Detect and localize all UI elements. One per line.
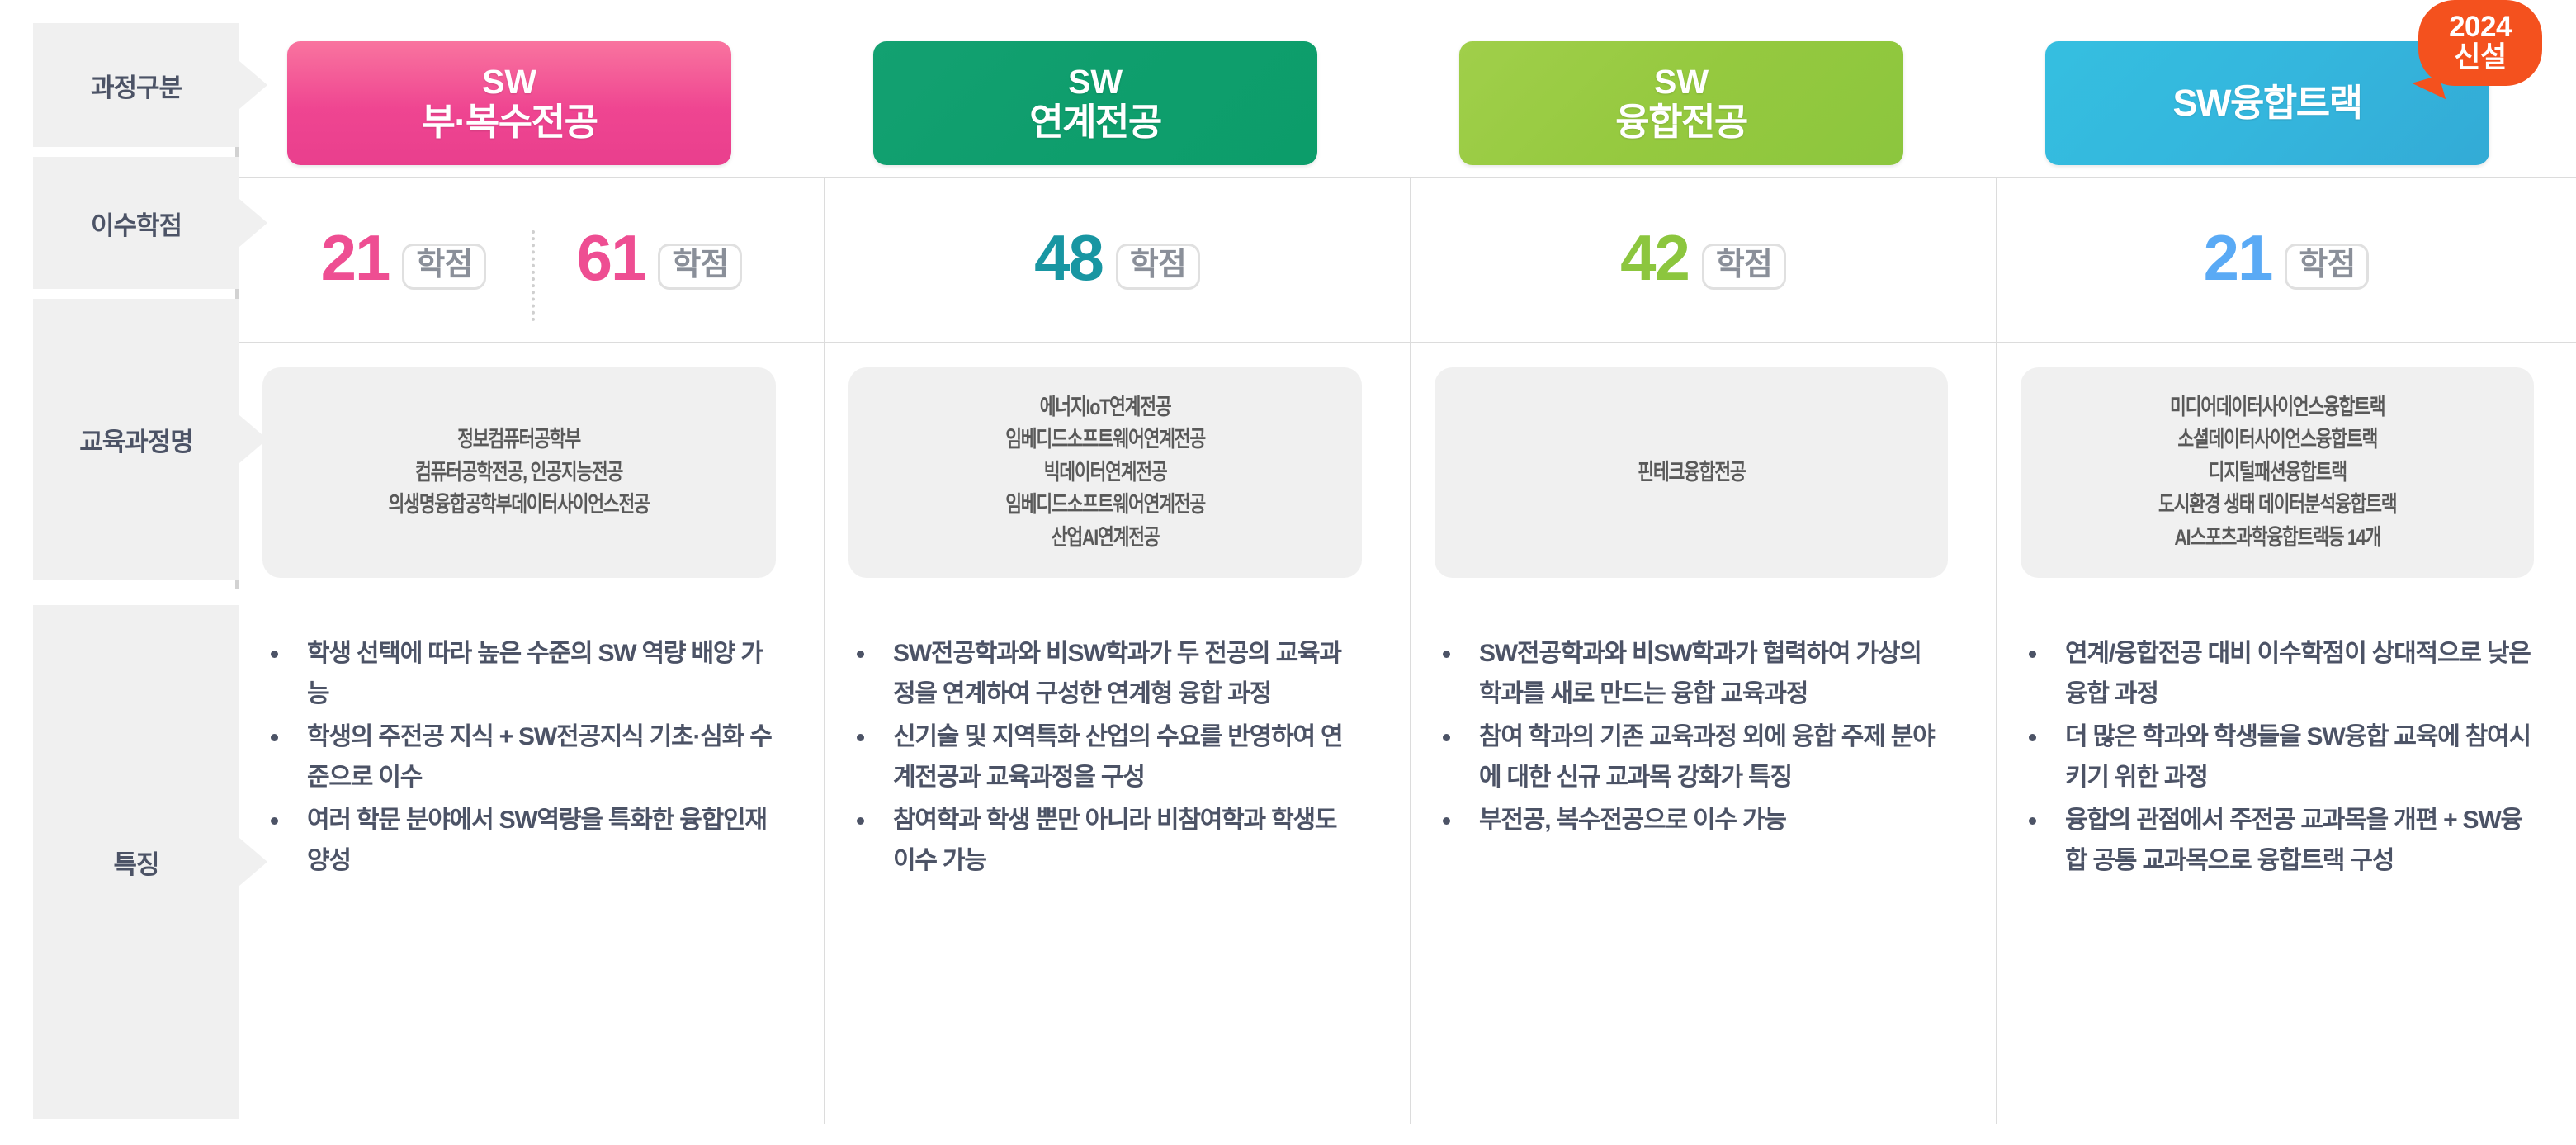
row-label-curriculum-name: 교육과정명 <box>33 299 239 580</box>
credit-value: 21 <box>321 225 390 290</box>
row-label-credits: 이수학점 <box>33 157 239 289</box>
feature-item: 학생의 주전공 지식 + SW전공지식 기초·심화 수준으로 이수 <box>264 717 776 797</box>
curriculum-card-sw-convergence-track: 미디어데이터사이언스융합트랙 소셜데이터사이언스융합트랙 디지털패션융합트랙 도… <box>2021 367 2534 578</box>
feature-list: 학생 선택에 따라 높은 수준의 SW 역량 배양 가능 학생의 주전공 지식 … <box>264 634 776 882</box>
column-header-line1: SW <box>1068 64 1123 102</box>
features-cell-sw-double-major: 학생 선택에 따라 높은 수준의 SW 역량 배양 가능 학생의 주전공 지식 … <box>264 634 776 885</box>
credit-value: 42 <box>1620 225 1689 290</box>
credits-cell-sw-double-major: 21 학점 61 학점 <box>239 206 824 314</box>
curriculum-card-sw-double-major: 정보컴퓨터공학부 컴퓨터공학전공, 인공지능전공 의생명융합공학부데이터사이언스… <box>262 367 776 578</box>
comparison-grid: SW 부·복수전공 21 학점 61 학점 정보컴퓨터공학부 컴퓨터공학전공, … <box>239 0 2576 1145</box>
curriculum-name-item: 도시환경 생태 데이터분석융합트랙 <box>2158 489 2396 521</box>
column-header-sw-linked-major[interactable]: SW 연계전공 <box>873 41 1317 165</box>
credit-unit-badge: 학점 <box>658 244 742 290</box>
credit-item-double: 61 학점 <box>532 225 787 295</box>
features-cell-sw-linked-major: SW전공학과와 비SW학과가 두 전공의 교육과정을 연계하여 구성한 연계형 … <box>850 634 1362 885</box>
feature-item: 연계/융합전공 대비 이수학점이 상대적으로 낮은 융합 과정 <box>2022 634 2534 714</box>
curriculum-name-list: 미디어데이터사이언스융합트랙 소셜데이터사이언스융합트랙 디지털패션융합트랙 도… <box>2158 391 2396 554</box>
curriculum-card-sw-linked-major: 에너지IoT연계전공 임베디드소프트웨어연계전공 빅데이터연계전공 임베디드소프… <box>848 367 1362 578</box>
credits-cell-sw-linked-major: 48 학점 <box>825 206 1410 314</box>
credit-unit-badge: 학점 <box>1116 244 1200 290</box>
credits-cell-sw-convergence-major: 42 학점 <box>1411 206 1996 314</box>
row-label-curriculum-name-text: 교육과정명 <box>79 421 193 458</box>
curriculum-name-item: 산업AI연계전공 <box>1005 522 1205 554</box>
curriculum-name-item: 에너지IoT연계전공 <box>1005 391 1205 423</box>
curriculum-name-item: 빅데이터연계전공 <box>1005 457 1205 489</box>
column-separator-2 <box>1410 177 1411 1124</box>
rule-below-header <box>239 177 2576 178</box>
credit-value: 48 <box>1034 225 1103 290</box>
column-header-sw-convergence-major[interactable]: SW 융합전공 <box>1459 41 1903 165</box>
feature-item: 참여학과 학생 뿐만 아니라 비참여학과 학생도 이수 가능 <box>850 801 1362 881</box>
credit-value: 21 <box>2204 225 2272 290</box>
feature-item: SW전공학과와 비SW학과가 협력하여 가상의 학과를 새로 만드는 융합 교육… <box>1436 634 1948 714</box>
feature-item: 학생 선택에 따라 높은 수준의 SW 역량 배양 가능 <box>264 634 776 714</box>
column-separator-3 <box>1996 177 1997 1124</box>
credit-item: 48 학점 <box>1034 225 1200 295</box>
new-2024-badge-year: 2024 <box>2449 12 2512 43</box>
row-label-features-text: 특징 <box>113 844 158 881</box>
curriculum-name-item: 미디어데이터사이언스융합트랙 <box>2158 391 2396 423</box>
row-label-course-type: 과정구분 <box>33 23 239 147</box>
curriculum-name-list: 에너지IoT연계전공 임베디드소프트웨어연계전공 빅데이터연계전공 임베디드소프… <box>1005 391 1205 554</box>
column-header-line2: 연계전공 <box>1029 102 1161 143</box>
feature-list: 연계/융합전공 대비 이수학점이 상대적으로 낮은 융합 과정 더 많은 학과와… <box>2022 634 2534 882</box>
credit-dotted-separator <box>532 230 535 321</box>
feature-item: 융합의 관점에서 주전공 교과목을 개편 + SW융합 공통 교과목으로 융합트… <box>2022 801 2534 881</box>
rule-below-curriculum <box>239 603 2576 603</box>
features-cell-sw-convergence-track: 연계/융합전공 대비 이수학점이 상대적으로 낮은 융합 과정 더 많은 학과와… <box>2022 634 2534 885</box>
feature-item: SW전공학과와 비SW학과가 두 전공의 교육과정을 연계하여 구성한 연계형 … <box>850 634 1362 714</box>
column-separator-1 <box>824 177 825 1124</box>
new-2024-badge: 2024 신설 <box>2418 0 2542 86</box>
credit-unit-badge: 학점 <box>1702 244 1786 290</box>
curriculum-name-item: 정보컴퓨터공학부 <box>389 423 650 456</box>
credit-unit-badge: 학점 <box>2285 244 2369 290</box>
credit-unit-badge: 학점 <box>402 244 486 290</box>
credit-item-minor: 21 학점 <box>276 225 532 295</box>
curriculum-name-item: 소셜데이터사이언스융합트랙 <box>2158 423 2396 456</box>
curriculum-comparison-table: 과정구분 이수학점 교육과정명 특징 <box>0 0 2576 1145</box>
credit-item: 21 학점 <box>2204 225 2370 295</box>
feature-item: 여러 학문 분야에서 SW역량을 특화한 융합인재 양성 <box>264 801 776 881</box>
column-header-sw-double-major[interactable]: SW 부·복수전공 <box>287 41 731 165</box>
curriculum-name-item: 의생명융합공학부데이터사이언스전공 <box>389 489 650 521</box>
curriculum-name-item: 임베디드소프트웨어연계전공 <box>1005 489 1205 521</box>
curriculum-name-list: 핀테크융합전공 <box>1638 457 1745 489</box>
curriculum-name-item: 컴퓨터공학전공, 인공지능전공 <box>389 457 650 489</box>
curriculum-card-sw-convergence-major: 핀테크융합전공 <box>1435 367 1948 578</box>
feature-item: 신기술 및 지역특화 산업의 수요를 반영하여 연계전공과 교육과정을 구성 <box>850 717 1362 797</box>
feature-item: 부전공, 복수전공으로 이수 가능 <box>1436 801 1948 841</box>
column-header-line2: SW융합트랙 <box>2172 83 2361 124</box>
feature-item: 더 많은 학과와 학생들을 SW융합 교육에 참여시키기 위한 과정 <box>2022 717 2534 797</box>
curriculum-name-item: 핀테크융합전공 <box>1638 457 1745 489</box>
column-header-line2: 융합전공 <box>1615 102 1747 143</box>
credit-item: 42 학점 <box>1620 225 1786 295</box>
curriculum-name-item: AI스포츠과학융합트랙등 14개 <box>2158 522 2396 554</box>
row-label-features: 특징 <box>33 605 239 1119</box>
new-2024-badge-label: 신설 <box>2454 43 2506 73</box>
feature-list: SW전공학과와 비SW학과가 협력하여 가상의 학과를 새로 만드는 융합 교육… <box>1436 634 1948 841</box>
feature-item: 참여 학과의 기존 교육과정 외에 융합 주제 분야에 대한 신규 교과목 강화… <box>1436 717 1948 797</box>
row-label-course-type-text: 과정구분 <box>91 67 182 104</box>
feature-list: SW전공학과와 비SW학과가 두 전공의 교육과정을 연계하여 구성한 연계형 … <box>850 634 1362 882</box>
features-cell-sw-convergence-major: SW전공학과와 비SW학과가 협력하여 가상의 학과를 새로 만드는 융합 교육… <box>1436 634 1948 845</box>
credit-value: 61 <box>577 225 645 290</box>
curriculum-name-item: 임베디드소프트웨어연계전공 <box>1005 423 1205 456</box>
curriculum-name-item: 디지털패션융합트랙 <box>2158 457 2396 489</box>
row-label-column: 과정구분 이수학점 교육과정명 특징 <box>0 0 239 1145</box>
credits-cell-sw-convergence-track: 21 학점 <box>1997 206 2576 314</box>
column-header-line1: SW <box>482 64 536 102</box>
row-label-credits-text: 이수학점 <box>91 205 182 242</box>
column-header-line2: 부·복수전공 <box>422 102 598 143</box>
column-header-line1: SW <box>1654 64 1709 102</box>
curriculum-name-list: 정보컴퓨터공학부 컴퓨터공학전공, 인공지능전공 의생명융합공학부데이터사이언스… <box>389 423 650 521</box>
rule-bottom <box>239 1124 2576 1124</box>
rule-below-credits <box>239 342 2576 343</box>
